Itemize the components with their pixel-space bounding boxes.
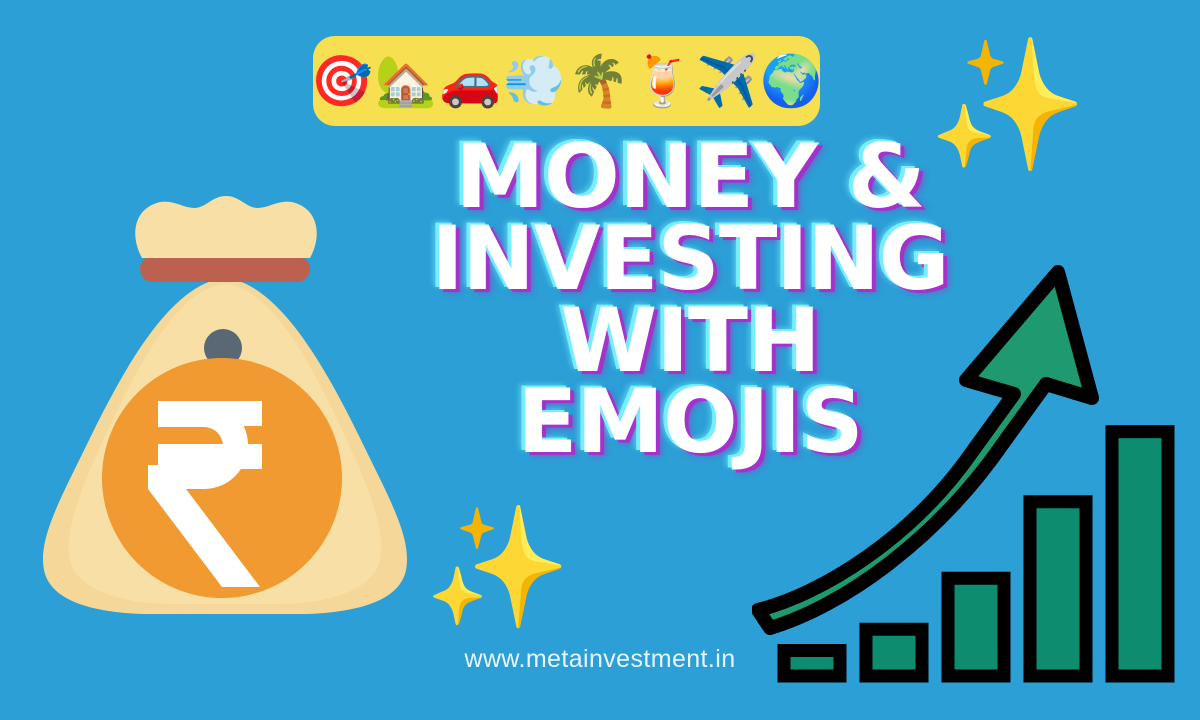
growth-bar-chart bbox=[752, 262, 1182, 697]
globe-icon: 🌍 bbox=[760, 56, 822, 106]
dash-icon: 💨 bbox=[503, 56, 565, 106]
bar-5 bbox=[1112, 432, 1168, 676]
poster-canvas: 🎯 🏡 🚗 💨 🌴 🍹 ✈️ 🌍 bbox=[0, 0, 1200, 720]
money-bag-illustration bbox=[30, 188, 420, 623]
bag-neck bbox=[135, 196, 317, 258]
sparkles-icon-top-right: ✨ bbox=[928, 42, 1087, 170]
bag-tie-band bbox=[140, 256, 310, 282]
dart-icon: 🎯 bbox=[310, 56, 372, 106]
dashing-car-icon: 🚗 bbox=[439, 56, 501, 106]
title-line-1: MONEY & bbox=[415, 136, 966, 218]
site-url: www.metainvestment.in bbox=[0, 645, 1200, 674]
tropical-drink-icon: 🍹 bbox=[632, 56, 694, 106]
house-icon: 🏡 bbox=[375, 56, 437, 106]
palm-tree-icon: 🌴 bbox=[568, 56, 630, 106]
airplane-icon: ✈️ bbox=[696, 56, 758, 106]
emoji-banner: 🎯 🏡 🚗 💨 🌴 🍹 ✈️ 🌍 bbox=[313, 36, 820, 126]
sparkles-icon-center: ✨ bbox=[424, 508, 571, 626]
